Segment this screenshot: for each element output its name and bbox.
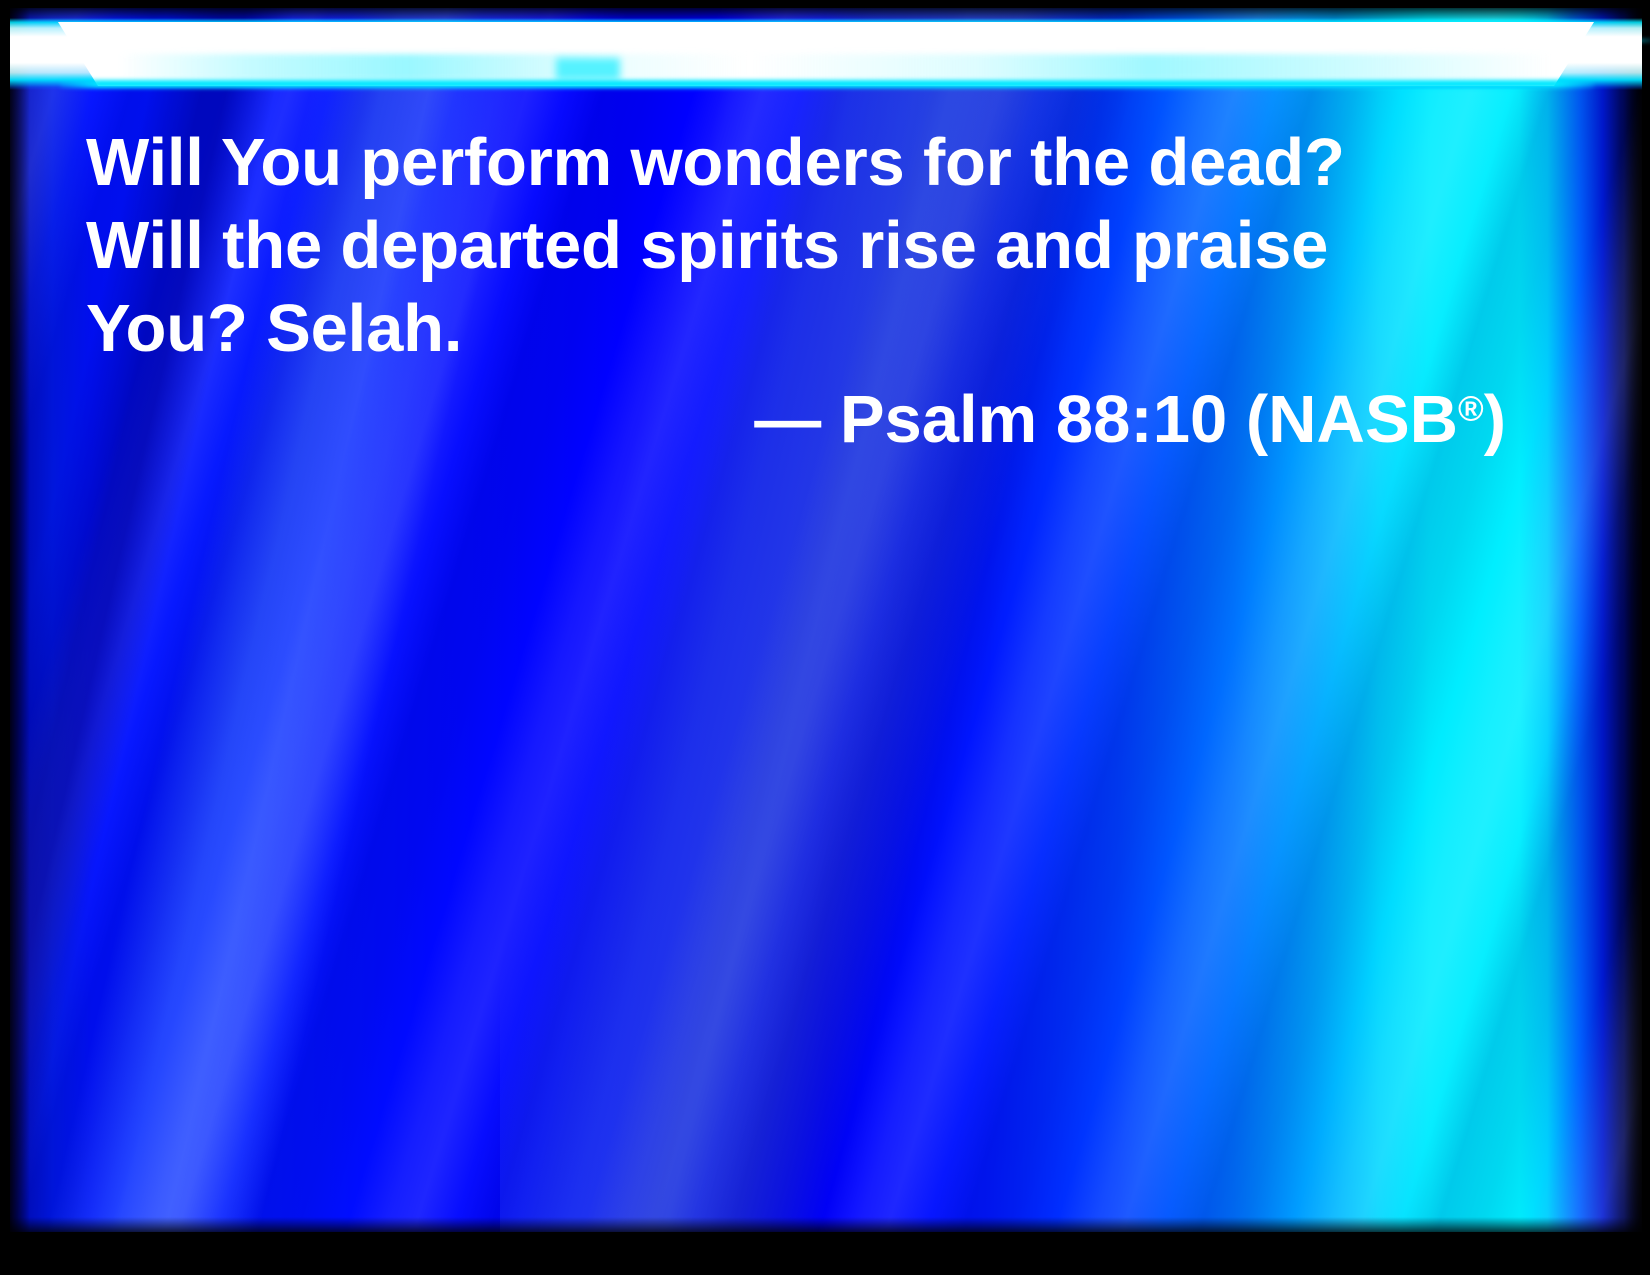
top-banner-white-plate xyxy=(58,22,1594,86)
attribution-translation-open: (NASB xyxy=(1246,382,1458,457)
top-banner-cyan-hairline xyxy=(20,38,1650,43)
verse-line-3: You? Selah. xyxy=(86,287,1506,370)
attribution-translation-close: ) xyxy=(1484,382,1506,457)
verse-attribution: — Psalm 88:10 (NASB®) xyxy=(86,378,1506,461)
top-banner-cyan-blob xyxy=(556,58,620,80)
attribution-em-dash: — xyxy=(754,382,821,457)
top-banner-cyan-wash xyxy=(120,54,1550,80)
attribution-chapter-verse: 88:10 xyxy=(1056,382,1227,457)
top-banner-cyan-underline xyxy=(60,80,1594,88)
verse-text-block: Will You perform wonders for the dead? W… xyxy=(86,121,1506,370)
attribution-book: Psalm xyxy=(840,382,1037,457)
top-banner-glow xyxy=(10,18,1642,90)
verse-line-2: Will the departed spirits rise and prais… xyxy=(86,204,1506,287)
verse-line-1: Will You perform wonders for the dead? xyxy=(86,121,1506,204)
verse-slide: Will You perform wonders for the dead? W… xyxy=(0,0,1650,1275)
registered-trademark-icon: ® xyxy=(1458,389,1484,428)
top-banner-band xyxy=(10,18,1642,90)
